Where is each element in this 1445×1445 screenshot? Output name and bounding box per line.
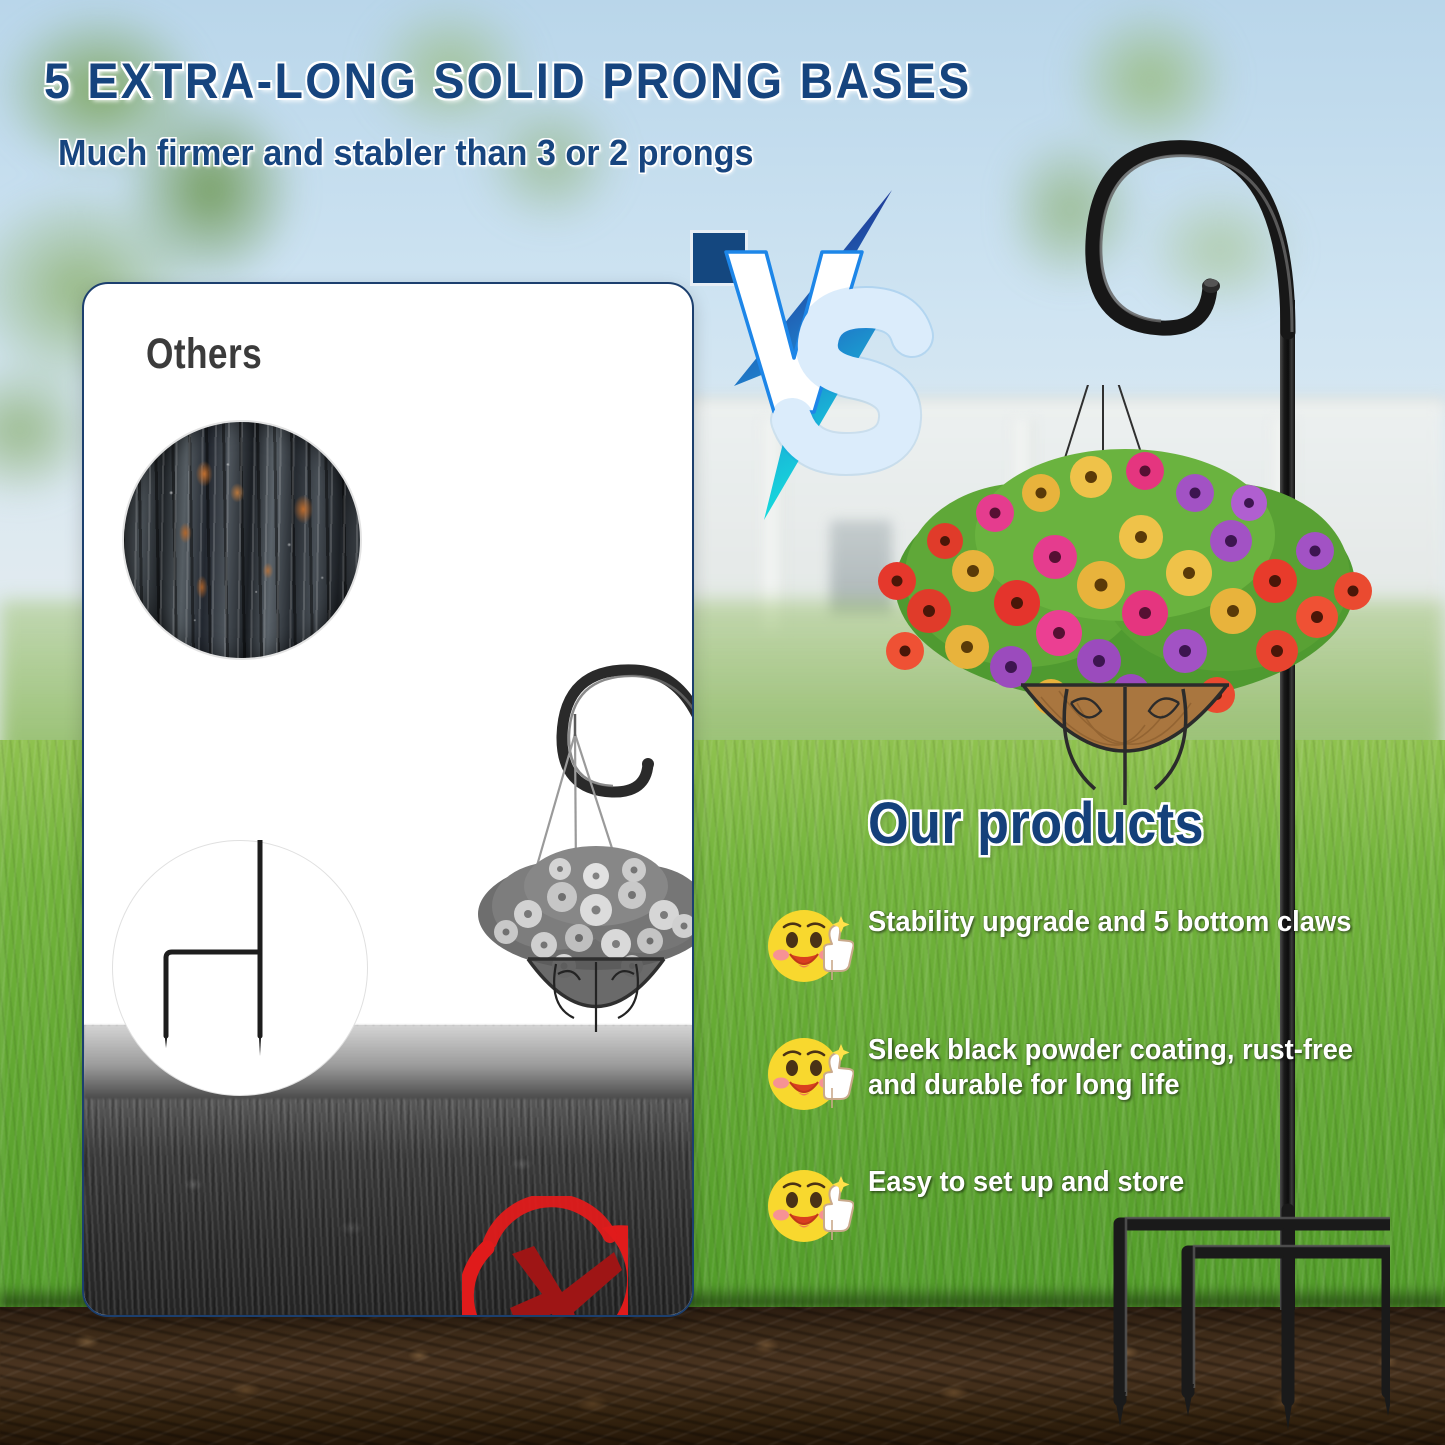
hanging-flower-basket-product bbox=[845, 385, 1405, 805]
two-prong-stake-diagram bbox=[112, 840, 368, 1140]
others-comparison-panel: Others bbox=[82, 282, 694, 1317]
red-x-circle-icon bbox=[462, 1196, 628, 1317]
smiley-thumbs-up-icon bbox=[762, 1160, 854, 1252]
headline: 5 EXTRA-LONG SOLID PRONG BASES bbox=[44, 52, 972, 110]
subheadline: Much firmer and stabler than 3 or 2 pron… bbox=[58, 132, 754, 174]
benefit-text-2: Sleek black powder coating, rust-free an… bbox=[868, 1028, 1353, 1103]
benefit-text-1: Stability upgrade and 5 bottom claws bbox=[868, 900, 1351, 940]
benefit-item-1: Stability upgrade and 5 bottom claws bbox=[762, 900, 1372, 992]
our-products-label: Our products bbox=[868, 790, 1204, 857]
smiley-thumbs-up-icon bbox=[762, 1028, 854, 1120]
others-label: Others bbox=[146, 330, 262, 379]
benefit-text-3: Easy to set up and store bbox=[868, 1160, 1184, 1200]
smiley-thumbs-up-icon bbox=[762, 900, 854, 992]
rusty-poles-photo bbox=[122, 420, 362, 660]
benefit-item-3: Easy to set up and store bbox=[762, 1160, 1197, 1252]
benefit-item-2: Sleek black powder coating, rust-free an… bbox=[762, 1028, 1373, 1120]
hanging-basket-grayscale bbox=[436, 614, 694, 1084]
